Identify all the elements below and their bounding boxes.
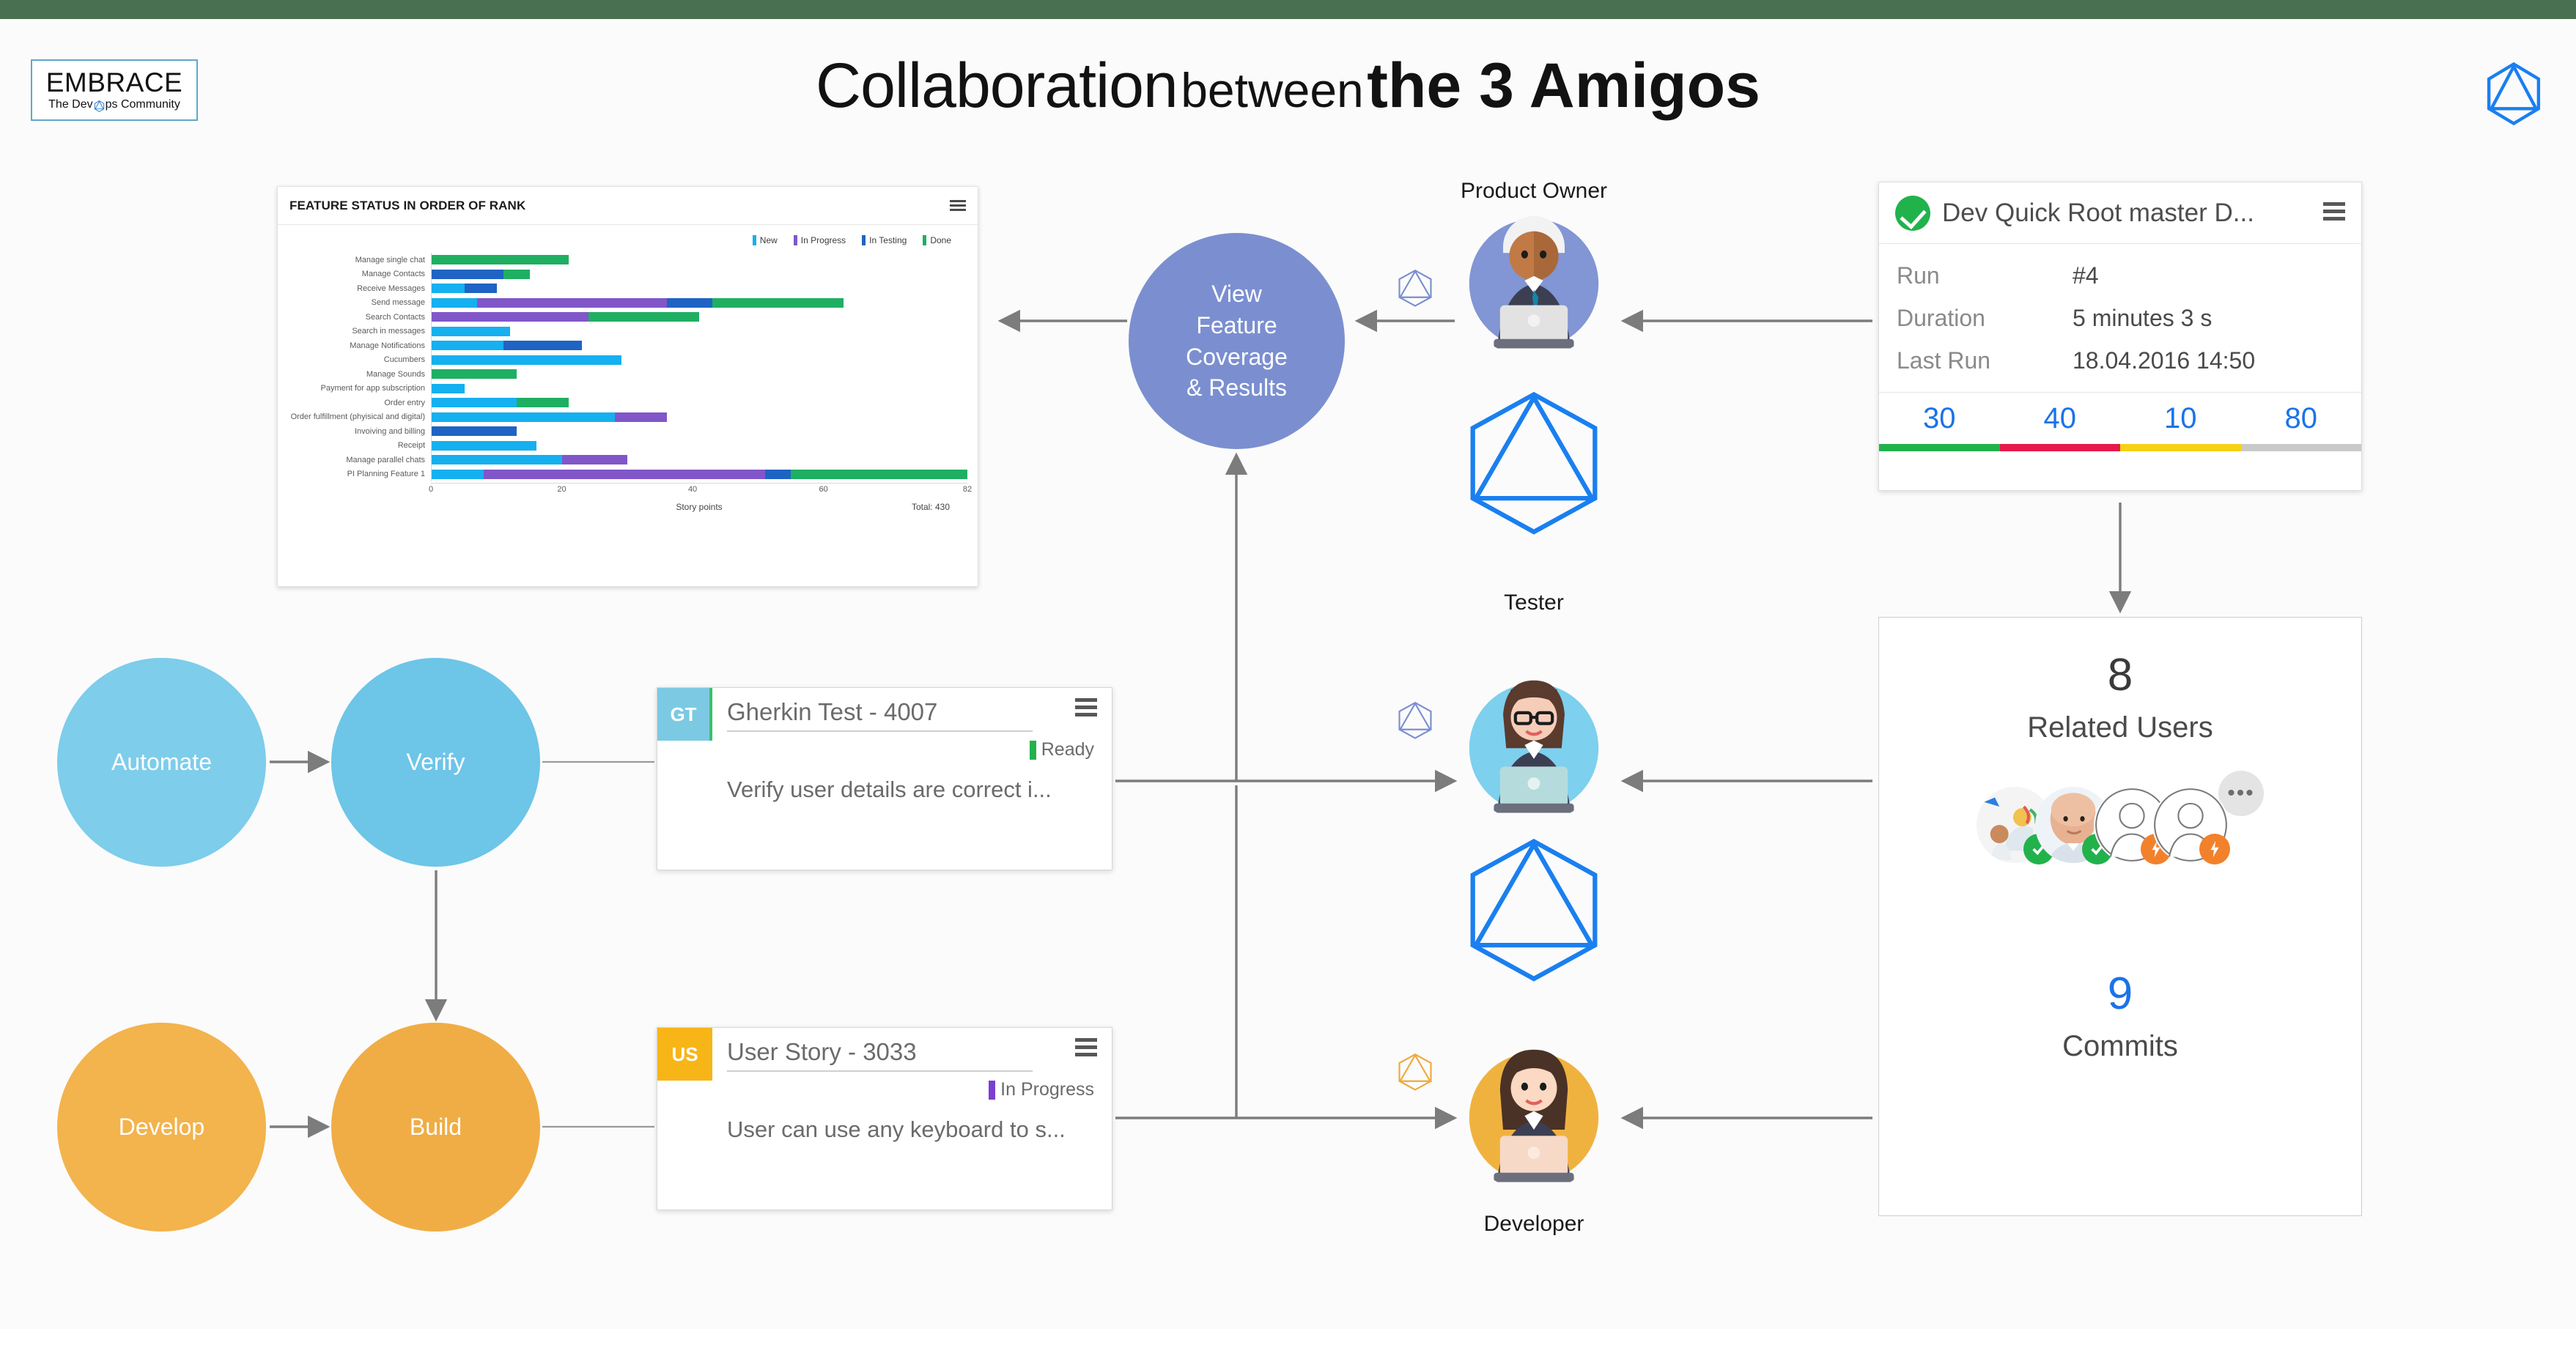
title-part-1: Collaboration xyxy=(816,51,1178,121)
hamburger-icon[interactable] xyxy=(2323,202,2345,224)
chart-bar-track xyxy=(431,396,967,410)
flow-circle-verify[interactable]: Verify xyxy=(331,658,540,867)
avatar-stack: ••• xyxy=(1879,766,2361,884)
related-users-card[interactable]: 8 Related Users xyxy=(1878,617,2362,1216)
chart-bar-segment xyxy=(791,470,967,479)
chart-bar-row: Order fulfillment (phyisical and digital… xyxy=(288,410,967,425)
chart-category-label: Payment for app subscription xyxy=(288,384,431,393)
run-row-value: #4 xyxy=(2073,262,2099,289)
chart-bar-row: Manage parallel chats xyxy=(288,453,967,467)
run-bar-segment xyxy=(2241,444,2362,451)
chart-legend: NewIn ProgressIn TestingDone xyxy=(288,231,967,250)
run-metrics: 30 40 10 80 xyxy=(1879,393,2361,444)
chart-bar-track xyxy=(431,424,967,439)
run-card-title: Dev Quick Root master D... xyxy=(1942,199,2311,228)
chart-category-label: PI Planning Feature 1 xyxy=(288,470,431,478)
chart-x-tick: 82 xyxy=(963,485,972,494)
chart-x-tick: 0 xyxy=(429,485,433,494)
chart-bar-segment xyxy=(667,298,712,308)
status-label: In Progress xyxy=(1000,1079,1094,1100)
corner-hexagon-triangle-icon xyxy=(2484,62,2544,126)
work-item-title: Gherkin Test - 4007 xyxy=(727,698,937,726)
chart-category-label: Manage Notifications xyxy=(288,341,431,350)
legend-swatch xyxy=(753,235,756,245)
run-row-value: 5 minutes 3 s xyxy=(2073,305,2212,332)
flow-circle-build[interactable]: Build xyxy=(331,1023,540,1232)
run-row-value: 18.04.2016 14:50 xyxy=(2073,347,2255,374)
avatar xyxy=(1457,204,1611,358)
chart-bar-segment xyxy=(432,355,621,365)
chart-category-label: Manage Contacts xyxy=(288,270,431,278)
person-label: Developer xyxy=(1457,1212,1611,1237)
person-tester-label-wrap: Tester xyxy=(1457,590,1611,615)
chart-bar-track xyxy=(431,382,967,396)
chart-bar-segment xyxy=(432,426,517,436)
chart-category-label: Manage single chat xyxy=(288,256,431,264)
chart-stacked-bar[interactable] xyxy=(432,327,510,336)
hexagon-triangle-icon xyxy=(1457,385,1611,550)
chart-stacked-bar[interactable] xyxy=(432,470,967,479)
chart-bar-track xyxy=(431,325,967,339)
view-circle-line-4: & Results xyxy=(1186,372,1288,404)
flow-circle-verify-label: Verify xyxy=(406,749,465,776)
flow-circle-automate-label: Automate xyxy=(111,749,212,776)
person-tester-group xyxy=(1457,385,1611,554)
person-label: Tester xyxy=(1457,590,1611,615)
chart-bar-segment xyxy=(562,455,627,464)
chart-bar-segment xyxy=(432,441,536,451)
chart-bar-track xyxy=(431,439,967,453)
chart-header: FEATURE STATUS IN ORDER OF RANK xyxy=(278,187,978,225)
chart-category-label: Invoiving and billing xyxy=(288,427,431,436)
person-product-owner: Product Owner xyxy=(1457,179,1611,361)
chart-category-label: Cucumbers xyxy=(288,355,431,364)
chart-bar-row: Send message xyxy=(288,296,967,311)
hamburger-icon[interactable] xyxy=(1075,698,1097,720)
chart-bar-row: Invoiving and billing xyxy=(288,424,967,439)
chart-bar-segment xyxy=(712,298,843,308)
chart-bar-track xyxy=(431,453,967,467)
chart-x-axis: 020406082 xyxy=(288,483,967,497)
bolt-badge-icon xyxy=(2199,834,2230,864)
flow-circle-automate[interactable]: Automate xyxy=(57,658,266,867)
legend-item[interactable]: Done xyxy=(923,235,951,245)
chart-bar-segment xyxy=(432,455,562,464)
chart-bar-segment xyxy=(432,255,569,264)
work-item-divider xyxy=(727,1070,1033,1072)
chart-stacked-bar[interactable] xyxy=(432,426,517,436)
run-card-row: Duration 5 minutes 3 s xyxy=(1897,297,2344,339)
chart-bar-segment xyxy=(503,270,530,279)
status-badge: In Progress xyxy=(657,1079,1094,1100)
chart-bar-row: Payment for app subscription xyxy=(288,382,967,396)
chart-bar-segment xyxy=(432,470,484,479)
run-metric-value: 10 xyxy=(2120,393,2241,444)
flow-circle-build-label: Build xyxy=(410,1114,462,1141)
chart-total: Total: 430 xyxy=(912,502,950,512)
chart-bar-row: Manage Sounds xyxy=(288,367,967,382)
status-swatch xyxy=(989,1081,995,1100)
view-feature-coverage-circle[interactable]: View Feature Coverage & Results xyxy=(1129,233,1345,449)
chart-stacked-bar[interactable] xyxy=(432,412,667,422)
hexagon-triangle-icon xyxy=(1395,700,1435,743)
run-card-row: Run #4 xyxy=(1897,254,2344,297)
legend-label: Done xyxy=(930,235,951,245)
chart-category-label: Order fulfillment (phyisical and digital… xyxy=(288,412,431,421)
chart-stacked-bar[interactable] xyxy=(432,312,700,322)
person-developer-label-wrap: Developer xyxy=(1457,1212,1611,1237)
chart-category-label: Search Contacts xyxy=(288,313,431,322)
run-metric-value: 80 xyxy=(2241,393,2362,444)
chart-x-tick: 60 xyxy=(819,485,827,494)
chart-bar-row: Manage Notifications xyxy=(288,338,967,353)
run-bar-segment xyxy=(2120,444,2241,451)
chart-bar-track xyxy=(431,310,967,325)
chart-bar-segment xyxy=(432,270,503,279)
chart-bar-track xyxy=(431,267,967,282)
run-status-card[interactable]: Dev Quick Root master D... Run #4 Durati… xyxy=(1878,182,2362,491)
chart-category-label: Manage parallel chats xyxy=(288,456,431,464)
run-metric-value: 30 xyxy=(1879,393,2000,444)
chart-bar-segment xyxy=(432,284,465,293)
chart-bar-segment xyxy=(432,341,503,350)
slide-canvas: EMBRACE The Dev ps Community Collaborati… xyxy=(0,19,2576,1329)
chart-bar-segment xyxy=(465,284,498,293)
hexagon-triangle-icon xyxy=(1457,832,1611,997)
chart-stacked-bar[interactable] xyxy=(432,384,465,393)
chart-category-label: Manage Sounds xyxy=(288,370,431,379)
chart-bar-track xyxy=(431,253,967,267)
status-badge: Ready xyxy=(657,739,1094,760)
chart-body: NewIn ProgressIn TestingDone Manage sing… xyxy=(278,225,978,587)
work-item-type-tag: GT xyxy=(657,688,712,741)
legend-swatch xyxy=(862,235,866,245)
commits-label: Commits xyxy=(1879,1030,2361,1063)
hamburger-icon[interactable] xyxy=(950,200,966,211)
flow-circle-develop[interactable]: Develop xyxy=(57,1023,266,1232)
avatar[interactable] xyxy=(2152,787,2229,863)
chart-xlabel: Story points xyxy=(431,502,967,512)
person-developer xyxy=(1457,1037,1611,1195)
chart-bar-segment xyxy=(765,470,791,479)
legend-swatch xyxy=(923,235,926,245)
legend-label: New xyxy=(760,235,778,245)
chart-bar-segment xyxy=(432,327,510,336)
hamburger-icon[interactable] xyxy=(1075,1038,1097,1060)
chart-bar-track xyxy=(431,367,967,382)
run-metric-value: 40 xyxy=(2000,393,2121,444)
run-row-key: Last Run xyxy=(1897,347,2073,374)
run-metrics-bar xyxy=(1879,444,2361,451)
feature-status-chart-card: FEATURE STATUS IN ORDER OF RANK NewIn Pr… xyxy=(277,186,978,587)
avatar xyxy=(1457,1037,1611,1191)
related-users-label: Related Users xyxy=(1879,711,2361,744)
chart-stacked-bar[interactable] xyxy=(432,255,569,264)
view-circle-line-2: Feature xyxy=(1186,310,1288,341)
chart-category-label: Order entry xyxy=(288,399,431,407)
top-accent-bar xyxy=(0,0,2576,19)
hexagon-divider-group xyxy=(1457,832,1611,1001)
chart-stacked-bar[interactable] xyxy=(432,298,844,308)
hexagon-triangle-icon xyxy=(1395,1052,1435,1095)
chart-title: FEATURE STATUS IN ORDER OF RANK xyxy=(289,199,525,213)
legend-label: In Progress xyxy=(801,235,846,245)
chart-bar-track xyxy=(431,296,967,311)
flow-circle-develop-label: Develop xyxy=(119,1114,204,1141)
legend-item[interactable]: In Progress xyxy=(794,235,846,245)
run-card-rows: Run #4 Duration 5 minutes 3 s Last Run 1… xyxy=(1879,244,2361,388)
chart-category-label: Send message xyxy=(288,298,431,307)
legend-item[interactable]: New xyxy=(753,235,778,245)
chart-bar-track xyxy=(431,353,967,368)
chart-bar-row: Manage Contacts xyxy=(288,267,967,282)
chart-category-label: Search in messages xyxy=(288,327,431,336)
chart-stacked-bar[interactable] xyxy=(432,355,621,365)
work-item-header: User Story - 3033 xyxy=(727,1028,1097,1066)
chart-plot: Manage single chatManage ContactsReceive… xyxy=(288,253,967,512)
chart-x-tick: 40 xyxy=(688,485,697,494)
chart-bar-segment xyxy=(432,312,588,322)
related-users-count: 8 xyxy=(1879,653,2361,698)
title-part-2: between xyxy=(1181,63,1364,117)
chart-category-label: Receipt xyxy=(288,441,431,450)
work-item-type-tag: US xyxy=(657,1028,712,1081)
chart-bar-segment xyxy=(484,470,764,479)
chart-stacked-bar[interactable] xyxy=(432,441,536,451)
chart-stacked-bar[interactable] xyxy=(432,284,497,293)
hexagon-triangle-icon xyxy=(1395,268,1435,311)
chart-stacked-bar[interactable] xyxy=(432,270,530,279)
work-item-description: Verify user details are correct i... xyxy=(727,777,1094,803)
run-card-row: Last Run 18.04.2016 14:50 xyxy=(1897,339,2344,382)
person-tester xyxy=(1457,668,1611,826)
run-card-header: Dev Quick Root master D... xyxy=(1879,182,2361,244)
work-item-divider xyxy=(727,730,1033,732)
legend-item[interactable]: In Testing xyxy=(862,235,907,245)
run-row-key: Duration xyxy=(1897,305,2073,332)
chart-bar-segment xyxy=(432,384,465,393)
run-bar-segment xyxy=(1879,444,2000,451)
chart-bar-segment xyxy=(432,398,517,407)
chart-stacked-bar[interactable] xyxy=(432,398,569,407)
chart-x-caption: Story points Total: 430 xyxy=(288,502,967,512)
view-circle-line-1: View xyxy=(1186,278,1288,310)
chart-bar-segment xyxy=(432,412,615,422)
work-item-card-user-story[interactable]: US User Story - 3033 In Progress User ca… xyxy=(657,1027,1112,1210)
chart-bar-segment xyxy=(615,412,667,422)
chart-rows: Manage single chatManage ContactsReceive… xyxy=(288,253,967,481)
chart-bar-segment xyxy=(588,312,700,322)
work-item-header: Gherkin Test - 4007 xyxy=(727,688,1097,726)
chart-stacked-bar[interactable] xyxy=(432,455,627,464)
legend-swatch xyxy=(794,235,797,245)
title-part-3: the 3 Amigos xyxy=(1367,51,1760,121)
chart-stacked-bar[interactable] xyxy=(432,369,517,379)
chart-bar-segment xyxy=(517,398,569,407)
status-label: Ready xyxy=(1041,739,1094,760)
chart-bar-track xyxy=(431,410,967,425)
chart-bar-track xyxy=(431,281,967,296)
commits-count: 9 xyxy=(1879,971,2361,1017)
chart-stacked-bar[interactable] xyxy=(432,341,582,350)
chart-bar-row: Order entry xyxy=(288,396,967,410)
legend-label: In Testing xyxy=(869,235,907,245)
avatar xyxy=(1457,668,1611,822)
chart-bar-row: Receive Messages xyxy=(288,281,967,296)
run-bar-segment xyxy=(2000,444,2121,451)
chart-bar-row: Receipt xyxy=(288,439,967,453)
chart-bar-segment xyxy=(432,298,477,308)
chart-bar-segment xyxy=(432,369,517,379)
chart-bar-row: Search Contacts xyxy=(288,310,967,325)
chart-bar-row: Cucumbers xyxy=(288,353,967,368)
chart-bar-segment xyxy=(477,298,667,308)
work-item-card-gherkin-test[interactable]: GT Gherkin Test - 4007 Ready Verify user… xyxy=(657,687,1112,870)
chart-bar-segment xyxy=(503,341,582,350)
chart-bar-row: Search in messages xyxy=(288,325,967,339)
work-item-title: User Story - 3033 xyxy=(727,1038,917,1066)
view-circle-line-3: Coverage xyxy=(1186,341,1288,373)
chart-bar-track xyxy=(431,467,967,482)
run-card-footer: 30 40 10 80 xyxy=(1879,392,2361,451)
check-circle-icon xyxy=(1895,196,1930,231)
page-title: Collaboration between the 3 Amigos xyxy=(0,50,2576,122)
chart-bar-row: Manage single chat xyxy=(288,253,967,267)
chart-x-tick: 20 xyxy=(557,485,566,494)
chart-category-label: Receive Messages xyxy=(288,284,431,293)
chart-bar-row: PI Planning Feature 1 xyxy=(288,467,967,482)
work-item-description: User can use any keyboard to s... xyxy=(727,1116,1094,1143)
run-row-key: Run xyxy=(1897,262,2073,289)
person-label: Product Owner xyxy=(1457,179,1611,204)
status-swatch xyxy=(1030,741,1036,760)
chart-bar-track xyxy=(431,338,967,353)
